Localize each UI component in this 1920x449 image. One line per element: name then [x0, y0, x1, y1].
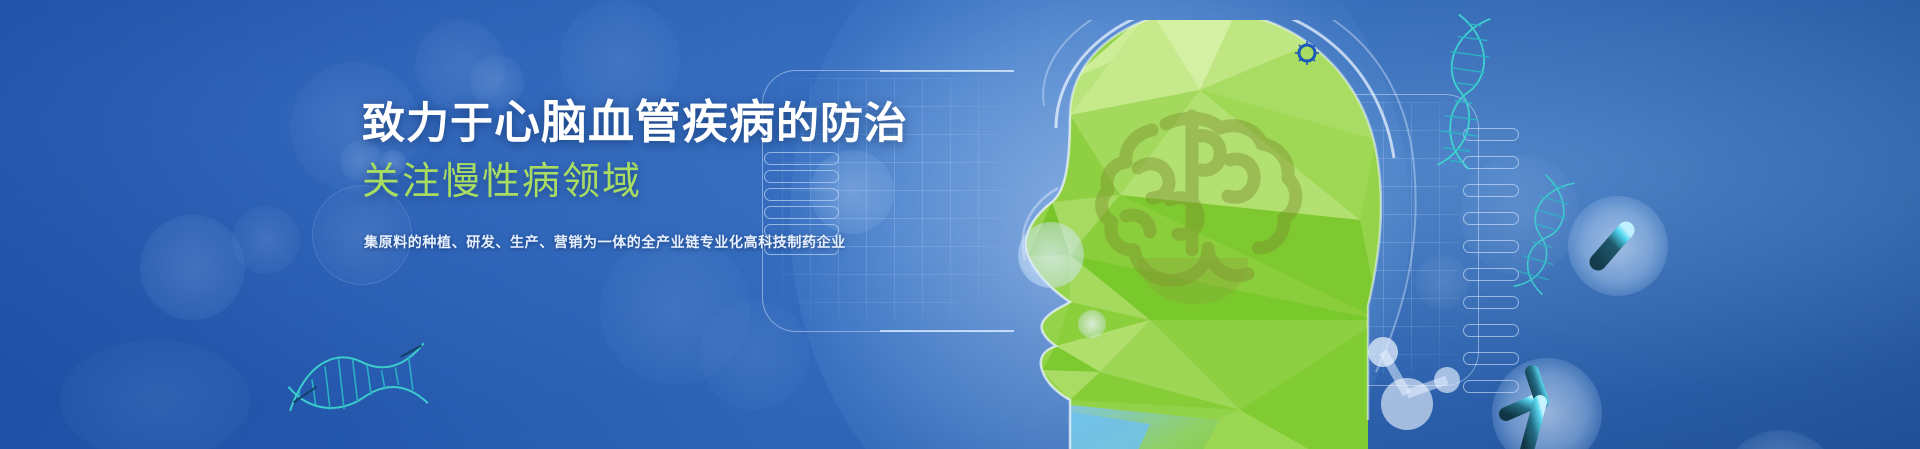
- hero-banner: 致力于心脑血管疾病的防治 关注慢性病领域 集原料的种植、研发、生产、营销为一体的…: [0, 0, 1920, 449]
- chin-highlight-circle: [1078, 310, 1106, 338]
- bacteria-cell: [1568, 196, 1668, 296]
- banner-subheadline: 关注慢性病领域: [362, 160, 922, 206]
- headline-part-3: 的防治: [776, 100, 908, 148]
- antibody-cell: [1492, 358, 1602, 449]
- cell-halo: [1720, 430, 1840, 449]
- bokeh-circle: [140, 215, 245, 320]
- cell-faint: [1720, 430, 1840, 449]
- face-highlight-circle: [1018, 222, 1084, 288]
- dna-helix-icon: [279, 331, 435, 427]
- banner-headline: 致力于心脑血管疾病的防治: [362, 96, 922, 150]
- banner-tagline: 集原料的种植、研发、生产、营销为一体的全产业链专业化高科技制药企业: [364, 231, 922, 253]
- bokeh-circle: [232, 206, 300, 274]
- bokeh-circle: [600, 235, 750, 385]
- virus-speck-icon: [1292, 38, 1322, 68]
- banner-text-block: 致力于心脑血管疾病的防治 关注慢性病领域 集原料的种植、研发、生产、营销为一体的…: [362, 96, 922, 254]
- headline-part-1: 致力于: [362, 100, 494, 148]
- headline-part-2: 心脑血管疾病: [494, 96, 776, 148]
- bokeh-circle: [60, 340, 250, 449]
- molecule-icon: [1355, 330, 1485, 449]
